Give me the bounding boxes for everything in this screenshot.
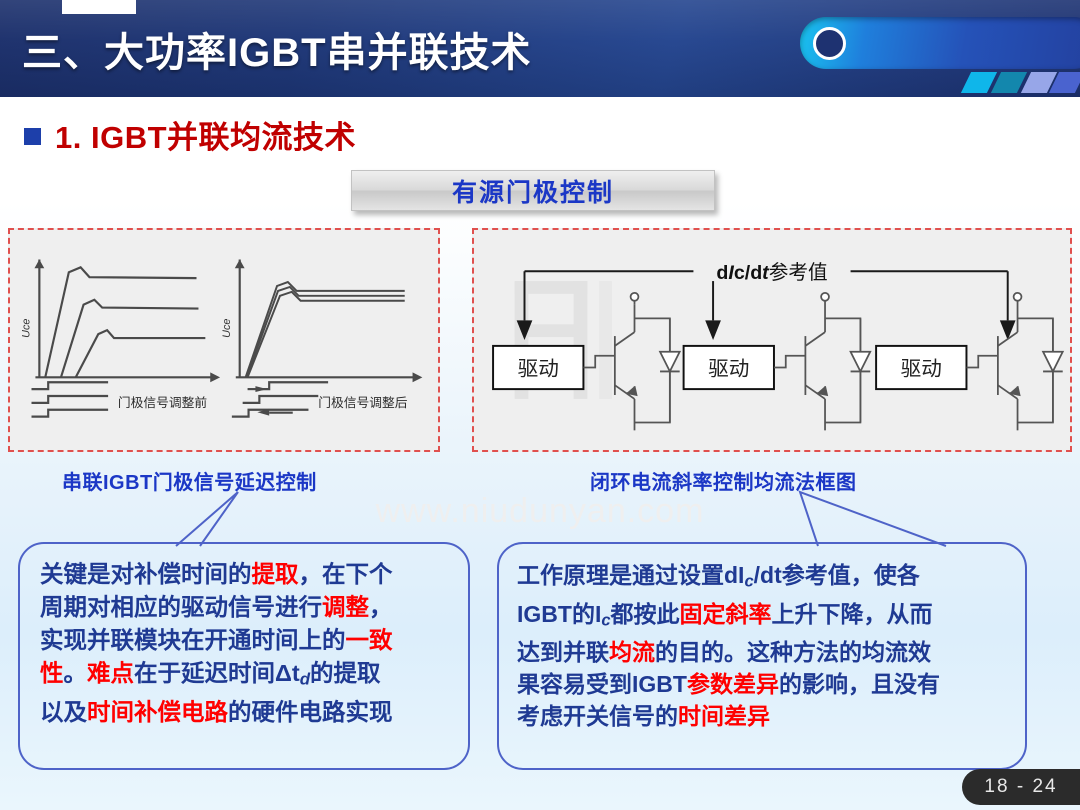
section-subtitle-label: 1. IGBT并联均流技术 <box>55 112 356 157</box>
svg-text:驱动: 驱动 <box>518 357 559 380</box>
svg-text:驱动: 驱动 <box>901 357 942 380</box>
figure-caption-left: 串联IGBT门极信号延迟控制 <box>62 466 317 495</box>
svg-text:Uce: Uce <box>221 319 233 338</box>
figure-panel-gate-delay: Uce 门极信号调整前 Uce <box>8 228 440 452</box>
gate-signal-waveform-diagram: Uce 门极信号调整前 Uce <box>10 230 438 450</box>
page-number-badge: 18 - 24 <box>962 769 1080 805</box>
callout-left-text: 关键是对补偿时间的提取，在下个周期对相应的驱动信号进行调整，实现并联模块在开通时… <box>20 544 468 739</box>
active-gate-control-banner: 有源门极控制 <box>351 170 715 211</box>
slide-title: 三、大功率IGBT串并联技术 <box>22 20 532 78</box>
banner-label: 有源门极控制 <box>452 173 614 209</box>
square-bullet-icon <box>24 128 41 145</box>
watermark-text: www.niudunyan.com <box>0 492 1080 531</box>
svg-text:驱动: 驱动 <box>708 357 749 380</box>
svg-text:门极信号调整前: 门极信号调整前 <box>118 395 207 410</box>
svg-text:门极信号调整后: 门极信号调整后 <box>318 395 407 410</box>
callout-right-text: 工作原理是通过设置dIc/dt参考值，使各IGBT的Ic都按此固定斜率上升下降，… <box>499 544 1025 742</box>
callout-box-left: 关键是对补偿时间的提取，在下个周期对相应的驱动信号进行调整，实现并联模块在开通时… <box>18 542 470 770</box>
svg-text:dIc/dt参考值: dIc/dt参考值 <box>716 262 827 284</box>
closed-loop-current-slope-diagram: dIc/dt参考值 驱动 驱动 <box>474 230 1070 450</box>
section-subtitle: 1. IGBT并联均流技术 <box>24 112 356 157</box>
figure-caption-right: 闭环电流斜率控制均流法框图 <box>590 466 857 495</box>
figure-panel-closed-loop-slope: dIc/dt参考值 驱动 驱动 <box>472 228 1072 452</box>
svg-text:Uce: Uce <box>21 319 33 338</box>
header-notch-decoration <box>62 0 136 14</box>
slide-header: 三、大功率IGBT串并联技术 <box>0 0 1080 97</box>
circle-outline-icon <box>813 27 846 60</box>
callout-box-right: 工作原理是通过设置dIc/dt参考值，使各IGBT的Ic都按此固定斜率上升下降，… <box>497 542 1027 770</box>
